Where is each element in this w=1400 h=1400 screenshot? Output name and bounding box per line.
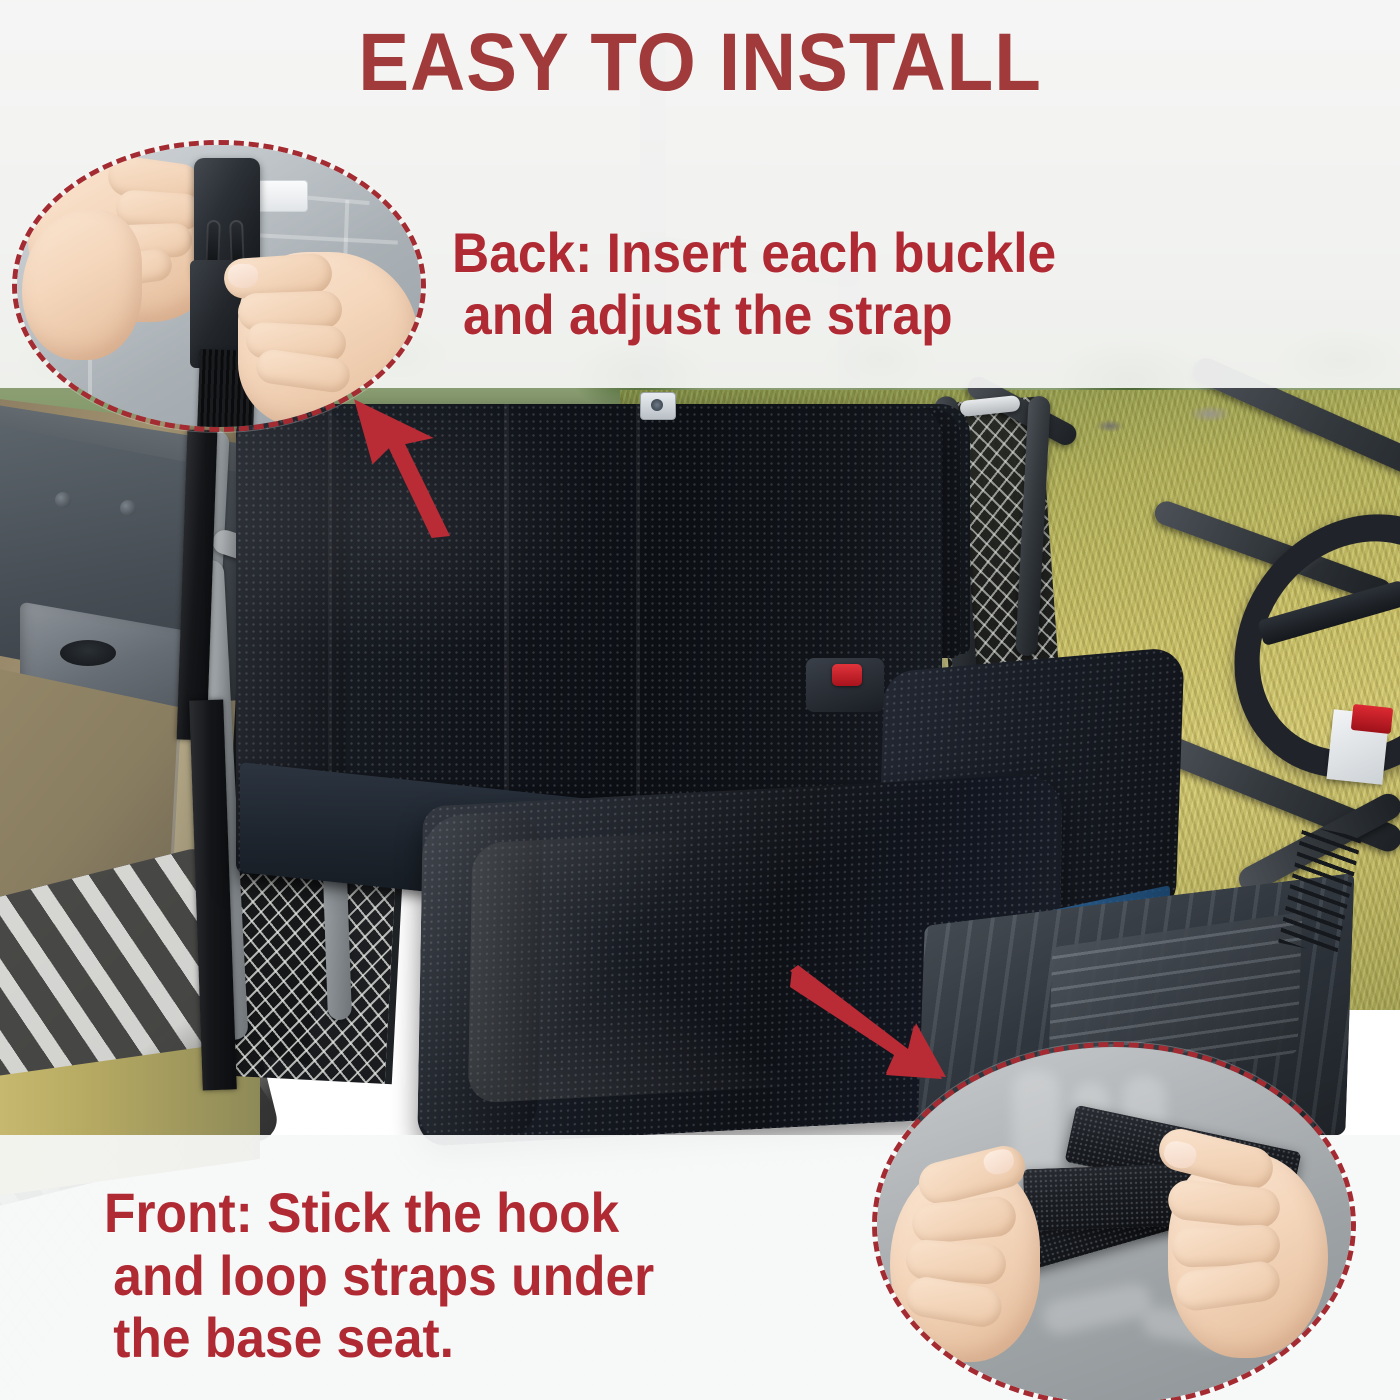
callout-front-line3: the base seat. — [104, 1307, 803, 1370]
callout-front-line2: and loop straps under — [104, 1245, 803, 1308]
sticker-icon — [651, 399, 663, 411]
inset-buckle-detail — [12, 140, 426, 432]
page-title: EASY TO INSTALL — [49, 22, 1351, 104]
callout-back-line2: and adjust the strap — [452, 284, 1225, 346]
inset-buckle-photo — [12, 140, 426, 432]
bed-bolt — [120, 500, 136, 516]
inset-hook-and-loop-photo — [872, 1042, 1356, 1400]
bed-bolt — [55, 492, 71, 508]
callout-front-line1: Front: Stick the hook — [104, 1182, 803, 1245]
callout-back-instruction: Back: Insert each buckle and adjust the … — [452, 222, 1225, 345]
inset-hook-and-loop-detail — [872, 1042, 1356, 1400]
hang-tag-red-band — [1351, 704, 1393, 734]
cup-holder-hole — [60, 640, 116, 666]
callout-back-line1: Back: Insert each buckle — [452, 221, 1056, 284]
product-infographic: EASY TO INSTALL Back: Insert each buckle… — [0, 0, 1400, 1400]
callout-front-instruction: Front: Stick the hook and loop straps un… — [104, 1182, 803, 1370]
seat-belt-release-button — [832, 664, 862, 686]
fingernail — [228, 264, 258, 288]
